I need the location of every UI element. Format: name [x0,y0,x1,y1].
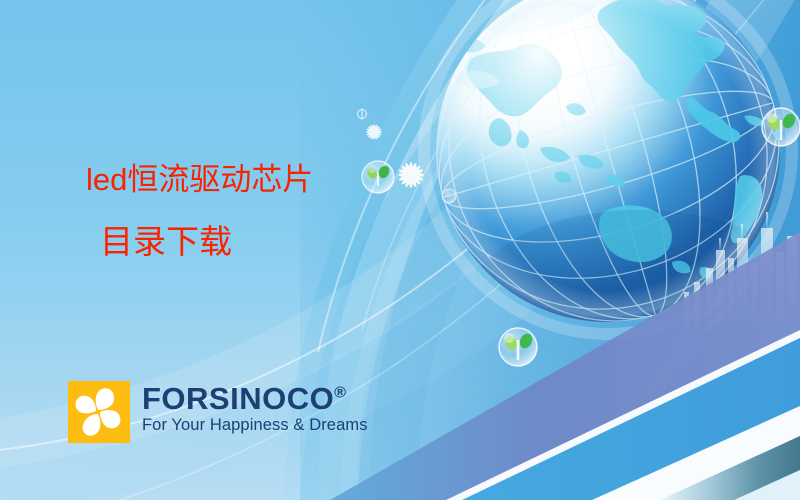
brand-logo: FORSINOCO® For Your Happiness & Dreams [68,381,368,443]
bubble-small-accent [442,189,456,203]
logo-company-name: FORSINOCO® [142,382,368,415]
bubble-with-sprout-center [499,328,537,366]
headline-line-1: led恒流驱动芯片 [86,160,416,200]
forsinoco-pinwheel-mark [68,381,130,443]
bubble-with-sprout-right [762,108,800,146]
headline-block: led恒流驱动芯片 目录下载 [86,160,416,264]
sparkle-asterisk-small [366,124,382,140]
registered-trademark-icon: ® [334,385,346,402]
logo-wordmark: FORSINOCO® For Your Happiness & Dreams [142,381,368,435]
headline-line-2: 目录下载 [86,222,416,264]
slide-canvas: led恒流驱动芯片 目录下载 FORSINOCO® For Your Happi… [0,0,800,500]
logo-company-name-text: FORSINOCO [142,381,334,416]
logo-tagline: For Your Happiness & Dreams [142,416,368,435]
